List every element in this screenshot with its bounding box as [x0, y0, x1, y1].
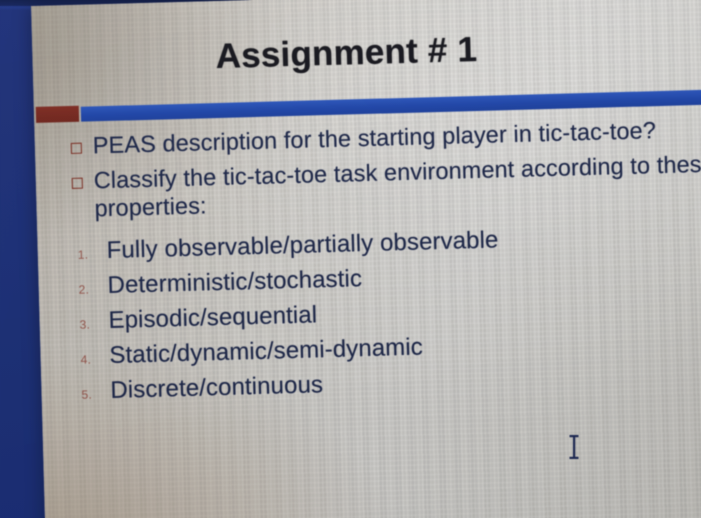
numbered-properties-list: 1. Fully observable/partially observable… — [73, 222, 701, 406]
bullet-text: Classify the tic-tac-toe task environmen… — [93, 151, 701, 223]
title-divider — [34, 87, 701, 123]
list-item-label: Episodic/sequential — [108, 303, 317, 336]
projected-slide-photo: Assignment # 1 PEAS description for the … — [0, 0, 701, 518]
list-item: Classify the tic-tac-toe task environmen… — [71, 151, 701, 223]
square-bullet-icon — [71, 143, 82, 154]
slide-body: PEAS description for the starting player… — [70, 116, 701, 414]
bullet-text: PEAS description for the starting player… — [92, 117, 656, 160]
slide-title: Assignment # 1 — [32, 23, 701, 82]
list-item-number: 2. — [75, 282, 108, 297]
slide-content: Assignment # 1 PEAS description for the … — [31, 0, 701, 518]
divider-accent-block — [36, 106, 79, 123]
list-item-number: 5. — [77, 387, 110, 402]
list-item-label: Deterministic/stochastic — [107, 266, 362, 300]
presentation-slide: Assignment # 1 PEAS description for the … — [31, 0, 701, 518]
list-item-label: Static/dynamic/semi-dynamic — [109, 335, 423, 370]
list-item-number: 3. — [75, 317, 108, 332]
list-item-label: Discrete/continuous — [110, 372, 323, 405]
divider-bar — [81, 88, 701, 122]
square-bullet-icon — [72, 178, 83, 189]
list-item-label: Fully observable/partially observable — [106, 228, 498, 265]
list-item-number: 1. — [74, 247, 107, 262]
list-item-number: 4. — [76, 352, 109, 367]
